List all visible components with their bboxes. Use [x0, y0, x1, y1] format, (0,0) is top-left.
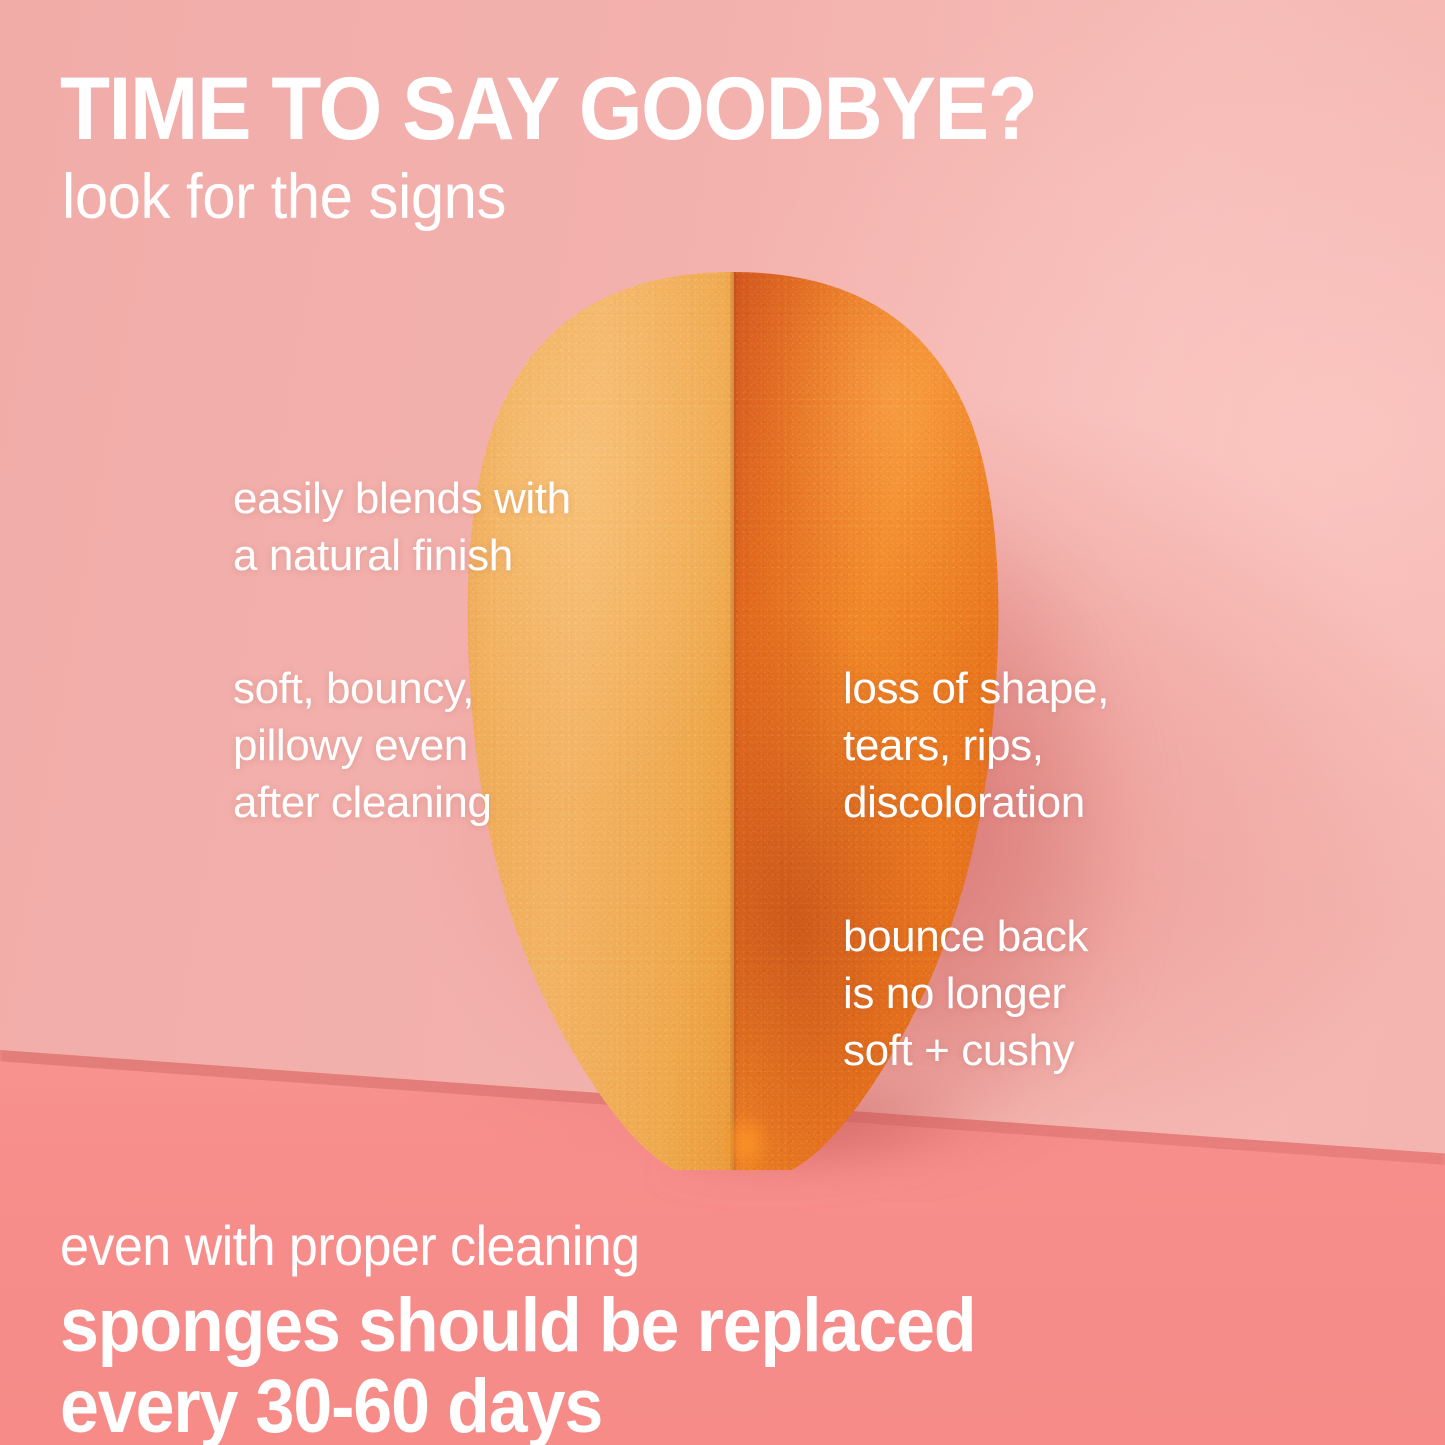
- sponge-bottom-tip: [711, 1098, 781, 1188]
- callout-bounce-back: bounce back is no longer soft + cushy: [843, 908, 1088, 1080]
- footer-lead-text: even with proper cleaning: [60, 1218, 985, 1274]
- footer-block: even with proper cleaning sponges should…: [60, 1218, 1055, 1445]
- page-subtitle: look for the signs: [62, 166, 506, 229]
- callout-easily-blends: easily blends with a natural finish: [233, 470, 571, 584]
- page-title: TIME TO SAY GOODBYE?: [60, 64, 1036, 153]
- footer-replacement-advice: sponges should be replaced every 30-60 d…: [60, 1286, 975, 1445]
- poster-canvas: TIME TO SAY GOODBYE? look for the signs …: [0, 0, 1445, 1445]
- callout-loss-of-shape: loss of shape, tears, rips, discoloratio…: [843, 660, 1109, 832]
- callout-soft-bouncy: soft, bouncy, pillowy even after cleanin…: [233, 660, 492, 832]
